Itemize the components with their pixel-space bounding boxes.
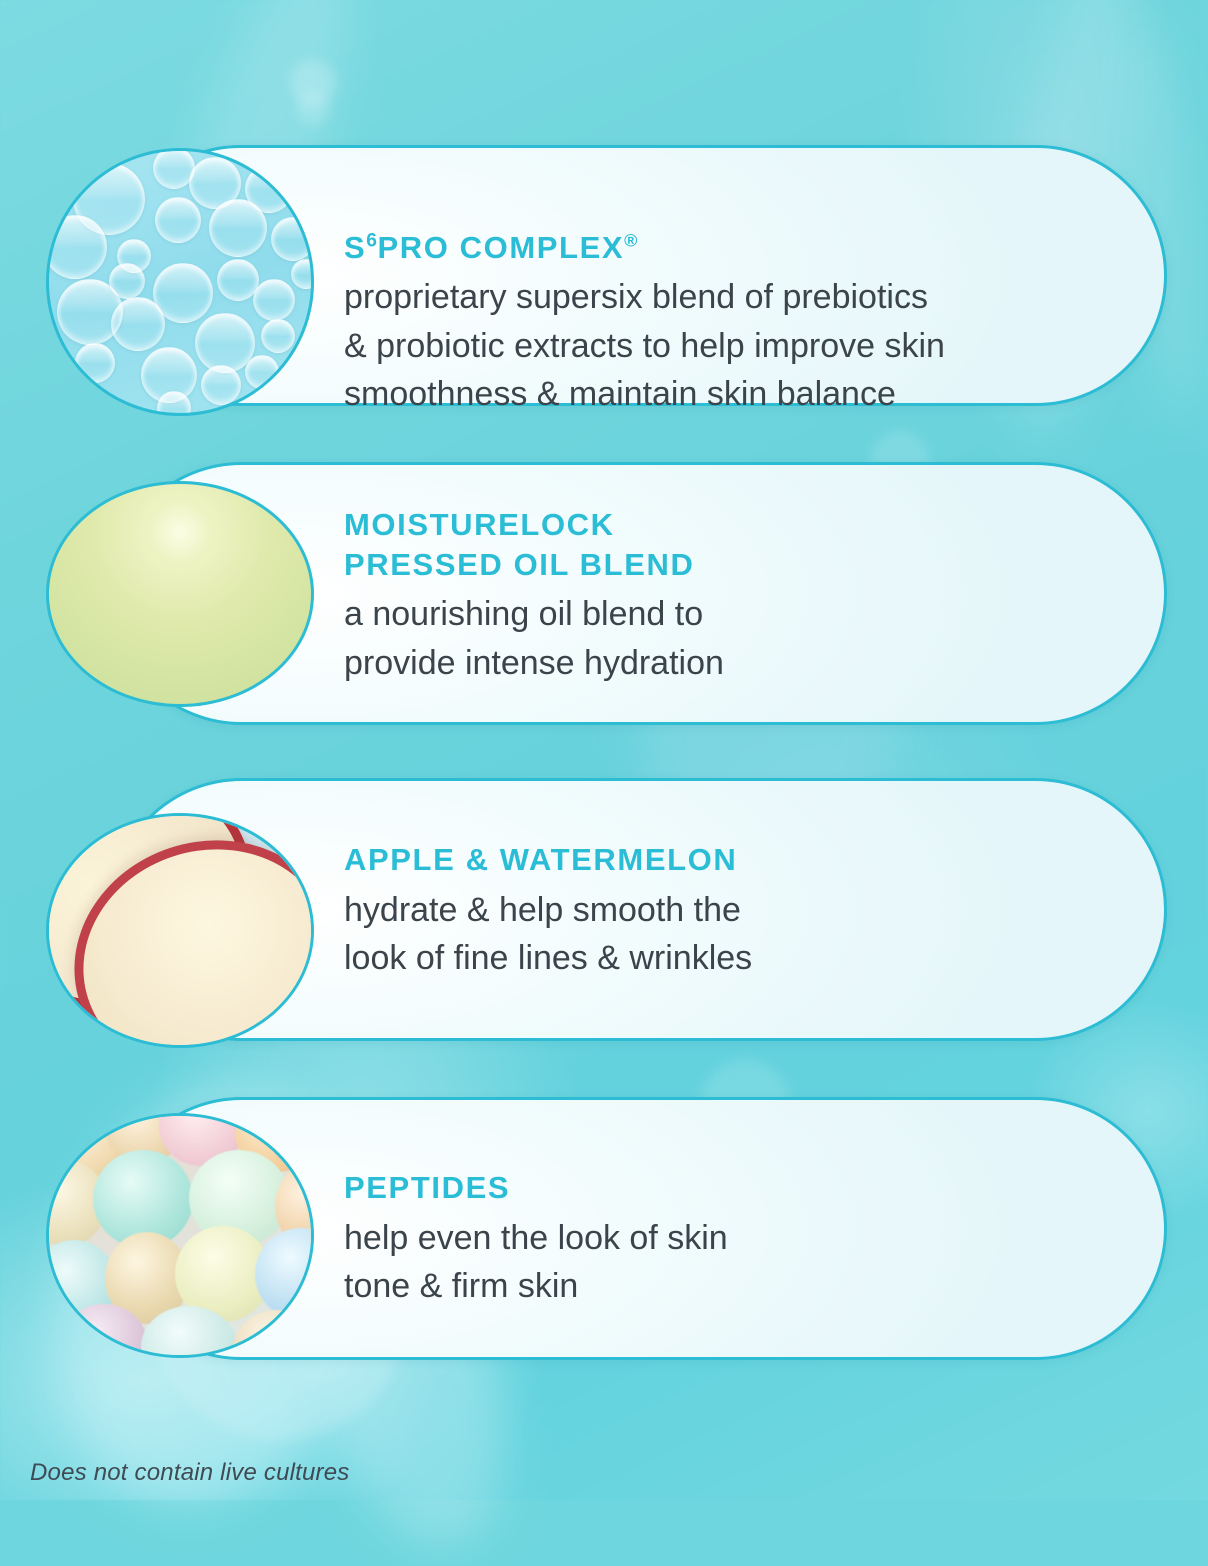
footnote-disclaimer: Does not contain live cultures	[30, 1459, 350, 1487]
registered-trademark-icon: ®	[624, 230, 637, 250]
ingredient-heading-peptides: PEPTIDES	[344, 1168, 1104, 1208]
bubbles-circle-image	[46, 148, 314, 416]
apple-slices-circle-image	[46, 813, 314, 1048]
heading-rest: PRO COMPLEX	[377, 230, 624, 265]
ingredient-body-peptides: help even the look of skin tone & firm s…	[344, 1214, 1104, 1311]
ingredient-heading-moisturelock: MOISTURELOCK PRESSED OIL BLEND	[344, 505, 1104, 584]
ingredient-card-text-moisturelock: MOISTURELOCK PRESSED OIL BLEND a nourish…	[344, 505, 1104, 687]
ingredient-card-text-peptides: PEPTIDES help even the look of skin tone…	[344, 1168, 1104, 1310]
ingredient-card-text-s6-pro-complex: S6PRO COMPLEX® proprietary supersix blen…	[344, 188, 1104, 418]
ingredient-card-text-apple-watermelon: APPLE & WATERMELON hydrate & help smooth…	[344, 840, 1104, 982]
ingredient-heading-apple-watermelon: APPLE & WATERMELON	[344, 840, 1104, 880]
ingredient-body-moisturelock: a nourishing oil blend to provide intens…	[344, 590, 1104, 687]
heading-superscript-six: 6	[366, 230, 377, 251]
peptide-beads-circle-image	[46, 1113, 314, 1358]
ingredient-body-s6-pro-complex: proprietary supersix blend of prebiotics…	[344, 273, 1104, 418]
heading-prefix: S	[344, 230, 366, 265]
ingredient-body-apple-watermelon: hydrate & help smooth the look of fine l…	[344, 886, 1104, 983]
ingredient-heading-s6-pro-complex: S6PRO COMPLEX®	[344, 188, 1104, 267]
oil-sphere-circle-image	[46, 481, 314, 707]
